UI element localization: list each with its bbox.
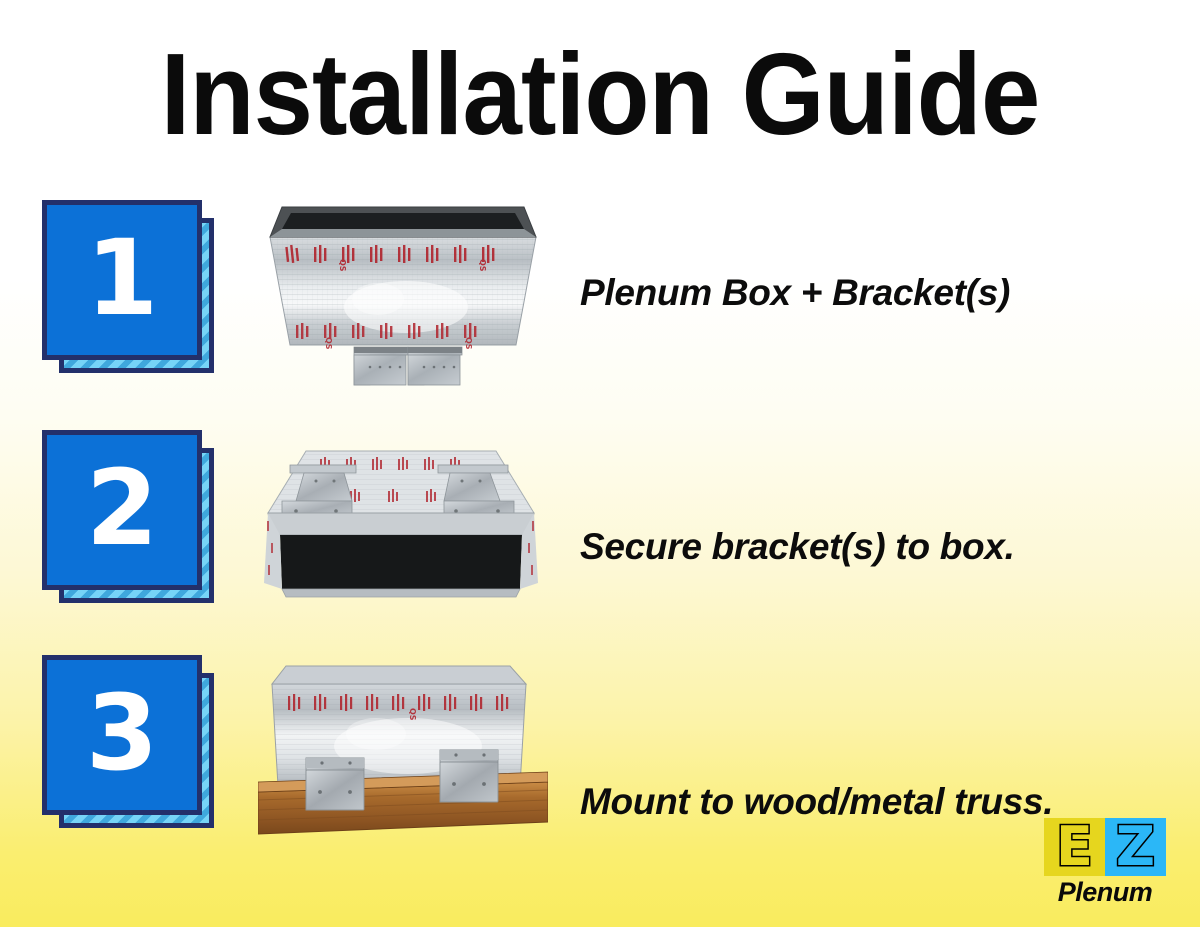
logo-letter-blocks: E Z (1044, 818, 1166, 876)
svg-text:QS: QS (408, 708, 417, 721)
logo-letter-z: Z (1105, 818, 1166, 876)
step-photo-2 (258, 425, 548, 625)
step-number-label: 3 (86, 681, 158, 785)
ez-plenum-logo: E Z Plenum (1044, 818, 1166, 906)
installation-guide-poster: Installation Guide 1 (0, 0, 1200, 927)
page-title: Installation Guide (48, 36, 1152, 152)
svg-text:QS: QS (464, 337, 473, 350)
step-photo-1: QS QS (258, 195, 548, 395)
step-row-2: 2 (0, 425, 1200, 625)
step-badge-1: 1 (42, 200, 232, 385)
badge-front-square: 1 (42, 200, 202, 360)
logo-letter-e: E (1044, 818, 1105, 876)
step-badge-2: 2 (42, 430, 232, 615)
step-photo-3: QS (258, 650, 548, 850)
step-caption-2: Secure bracket(s) to box. (580, 447, 1190, 647)
badge-front-square: 3 (42, 655, 202, 815)
plenum-box-with-loose-brackets-illustration: QS QS (258, 195, 548, 395)
svg-text:QS: QS (324, 337, 333, 350)
svg-text:QS: QS (338, 259, 347, 272)
badge-front-square: 2 (42, 430, 202, 590)
step-badge-3: 3 (42, 655, 232, 840)
step-row-3: 3 (0, 650, 1200, 850)
plenum-box-with-attached-brackets-illustration (258, 425, 548, 625)
svg-text:QS: QS (478, 259, 487, 272)
plenum-box-mounted-on-truss-illustration: QS (258, 650, 548, 850)
step-caption-1: Plenum Box + Bracket(s) (580, 193, 1190, 393)
step-row-1: 1 (0, 195, 1200, 395)
step-number-label: 2 (86, 456, 158, 560)
logo-wordmark: Plenum (1044, 877, 1166, 908)
step-number-label: 1 (86, 226, 158, 330)
